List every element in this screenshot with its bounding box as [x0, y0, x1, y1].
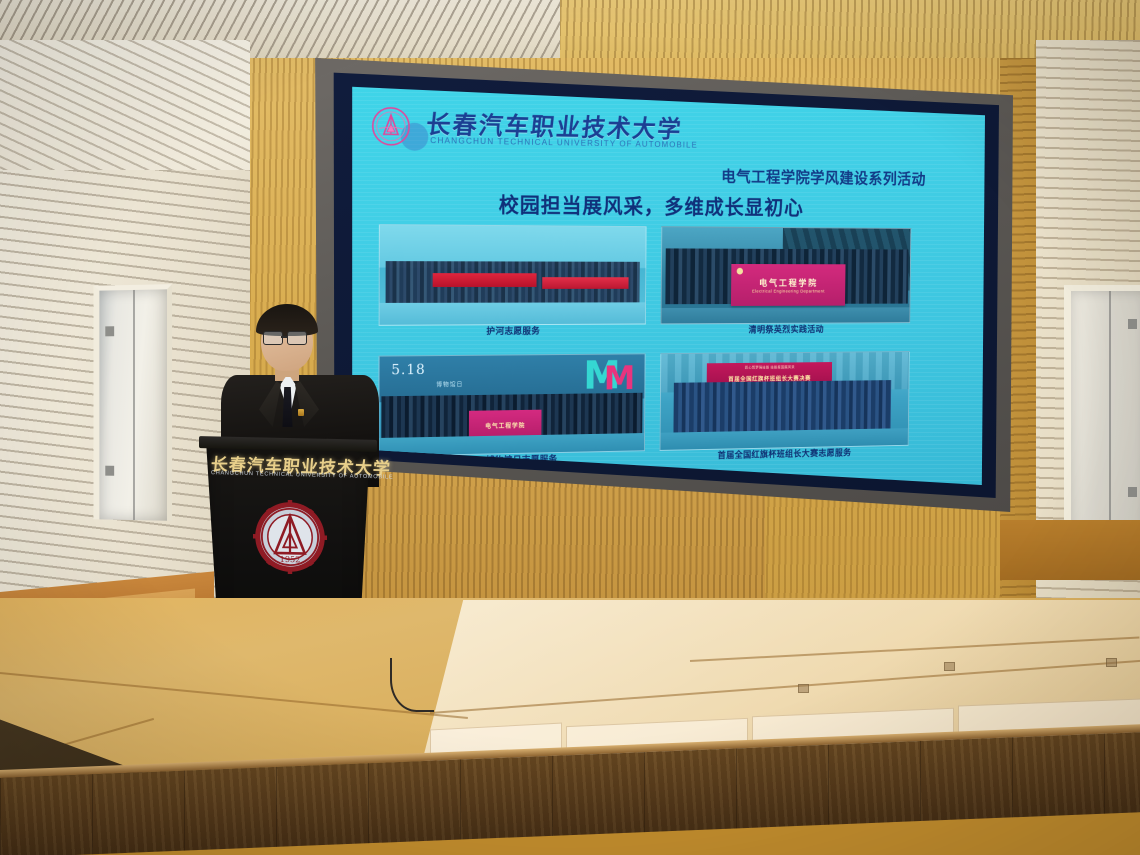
speaker-lapel-pin [298, 409, 304, 416]
photo-red-banner-2 [542, 277, 628, 289]
photo-redflag-cup: 匠心筑梦强技能 技能报国展风采 首届全国红旗杯班组长大赛决赛 [660, 351, 910, 451]
door-seam [133, 290, 135, 520]
floor-stage-insert [944, 662, 955, 671]
door-hinge-lower [105, 466, 114, 476]
emblem-year-text: 1952 [280, 554, 301, 564]
floor-stage-insert [1106, 658, 1117, 667]
eyeglasses-icon-right [287, 331, 307, 345]
right-wall-skirt [1000, 520, 1140, 580]
photo-museum-day: 5.18 博物馆日 M M 电气工程学院 [378, 353, 645, 456]
door-seam-right [1109, 291, 1111, 546]
banner-title-en: Electrical Engineering Department [731, 289, 845, 294]
photo-cell[interactable]: 电气工程学院 Electrical Engineering Department… [660, 226, 909, 340]
eyeglasses-icon [263, 331, 283, 345]
photo-seated-rows [673, 380, 891, 432]
left-door[interactable] [93, 284, 172, 521]
backdrop-letter-pink: M [604, 362, 636, 395]
banner-emblem-icon [737, 268, 743, 275]
slide-photo-grid: 护河志愿服务 电气工程学院 Electrical Engineering Dep… [378, 224, 915, 472]
photo-caption: 清明祭英烈实践活动 [660, 322, 908, 336]
photo-red-banner-1 [433, 273, 537, 287]
photo-ground [662, 307, 910, 323]
auditorium-scene: 长春汽车职业技术大学 CHANGCHUN TECHNICAL UNIVERSIT… [0, 0, 1140, 855]
projection-screen[interactable]: 长春汽车职业技术大学 CHANGCHUN TECHNICAL UNIVERSIT… [349, 84, 985, 485]
photo-cell[interactable]: 匠心筑梦强技能 技能报国展风采 首届全国红旗杯班组长大赛决赛 首届全国红旗杯班组… [659, 351, 908, 466]
photo-qingming-memorial: 电气工程学院 Electrical Engineering Department [661, 226, 912, 324]
backdrop-number: 5.18 [391, 362, 425, 378]
university-gear-seal-icon: 1952 [253, 499, 327, 575]
photo-magenta-banner: 电气工程学院 Electrical Engineering Department [731, 264, 846, 306]
presentation-slide: 长春汽车职业技术大学 CHANGCHUN TECHNICAL UNIVERSIT… [349, 84, 939, 484]
slide-department-banner: 电气工程学院学风建设系列活动 [721, 163, 926, 189]
door-hinge-upper [105, 326, 114, 336]
slide-title: 校园担当展风采，多维成长显初心 [349, 188, 938, 223]
eyeglasses-bridge [281, 336, 287, 338]
banner-title-cn: 电气工程学院 [469, 420, 542, 430]
banner-top-cn: 匠心筑梦强技能 技能报国展风采 [707, 365, 832, 371]
right-door[interactable] [1064, 285, 1140, 546]
photo-cell[interactable]: 护河志愿服务 [379, 224, 645, 342]
door-hinge-right-upper [1128, 319, 1137, 329]
university-seal-icon [371, 106, 411, 147]
backdrop-subtitle: 博物馆日 [436, 379, 463, 388]
photo-caption: 护河志愿服务 [379, 324, 644, 338]
photo-river-volunteers [379, 224, 647, 326]
floor-stage-insert [798, 684, 809, 693]
photo-ground [380, 302, 645, 324]
door-hinge-right-lower [1128, 487, 1137, 497]
photo-magenta-banner: 电气工程学院 [469, 410, 542, 437]
banner-title-cn: 电气工程学院 [731, 276, 845, 288]
left-wall-upper-slats [0, 40, 250, 170]
